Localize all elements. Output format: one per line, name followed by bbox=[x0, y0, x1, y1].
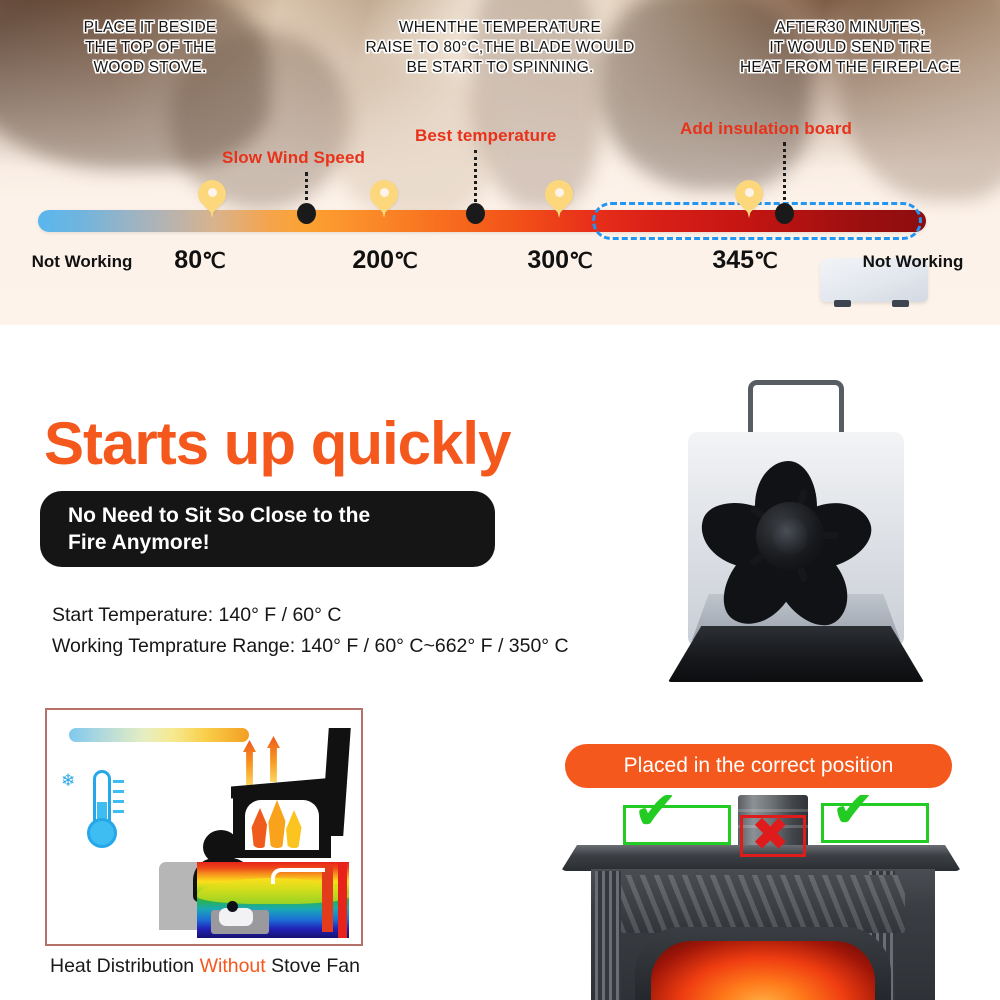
thermometer-graduation bbox=[113, 800, 124, 803]
stove-column bbox=[595, 871, 621, 1000]
caption-highlight: Without bbox=[200, 955, 266, 977]
caption-pre: Heat Distribution bbox=[50, 955, 200, 977]
thermometer-graduation bbox=[113, 780, 124, 783]
temperature-scale: Slow Wind Speed Best temperature Add ins… bbox=[0, 110, 1000, 300]
thermal-person-head bbox=[227, 901, 238, 912]
instruction-step-3-text: AFTER30 MINUTES,IT WOULD SEND TREHEAT FR… bbox=[708, 18, 992, 78]
tagline-badge: No Need to Sit So Close to the Fire Anym… bbox=[40, 491, 495, 567]
insulation-board-foot bbox=[834, 300, 851, 307]
instruction-steps: PLACE IT BESIDETHE TOP OF THEWOOD STOVE.… bbox=[0, 18, 1000, 90]
correct-position-badge: Placed in the correct position bbox=[565, 744, 952, 788]
stove-placement-illustration: ✔ ✖ ✔ bbox=[555, 795, 975, 1000]
tagline-line-1: No Need to Sit So Close to the bbox=[68, 504, 370, 527]
scale-pin-marker bbox=[370, 180, 398, 220]
tick-label-80: 80℃ bbox=[120, 246, 280, 275]
scale-pin-marker bbox=[735, 180, 763, 220]
heat-distribution-panel: ❄ bbox=[45, 708, 363, 946]
caption-post: Stove Fan bbox=[266, 955, 360, 977]
tick-label-not-working-right: Not Working bbox=[838, 252, 988, 272]
scale-pin-marker bbox=[545, 180, 573, 220]
snowflake-icon: ❄ bbox=[61, 772, 75, 789]
tick-label-345: 345℃ bbox=[655, 246, 835, 275]
thermal-imaging-photo bbox=[197, 862, 349, 938]
thermometer-icon: ❄ bbox=[75, 770, 137, 848]
instruction-step-1-text: PLACE IT BESIDETHE TOP OF THEWOOD STOVE. bbox=[8, 18, 292, 78]
hero-banner: PLACE IT BESIDETHE TOP OF THEWOOD STOVE.… bbox=[0, 0, 1000, 325]
page-title: Starts up quickly bbox=[44, 409, 510, 478]
thermometer-graduation bbox=[113, 790, 124, 793]
cross-icon: ✖ bbox=[751, 811, 790, 857]
thermal-heat-column bbox=[338, 862, 347, 938]
annotation-slow-wind-speed: Slow Wind Speed bbox=[222, 148, 365, 168]
heat-scale-gradient bbox=[69, 728, 249, 742]
thermometer-bulb bbox=[87, 818, 117, 848]
tick-label-200: 200℃ bbox=[295, 246, 475, 275]
instruction-step-1: PLACE IT BESIDETHE TOP OF THEWOOD STOVE. bbox=[0, 18, 300, 78]
check-icon: ✔ bbox=[831, 795, 876, 829]
fireplace-illustration bbox=[225, 728, 347, 868]
spec-start-temperature: Start Temperature: 140° F / 60° C bbox=[52, 604, 341, 627]
tagline-text: No Need to Sit So Close to the Fire Anym… bbox=[68, 502, 370, 556]
insulation-board-foot bbox=[892, 300, 909, 307]
scale-pin-marker bbox=[198, 180, 226, 220]
instruction-step-2: WHENTHE TEMPERATURERAISE TO 80°C,THE BLA… bbox=[300, 18, 700, 78]
correct-position-label: Placed in the correct position bbox=[624, 754, 894, 778]
stove-ornament-panel bbox=[621, 875, 905, 933]
tagline-line-2: Fire Anymore! bbox=[68, 531, 210, 554]
tick-label-300: 300℃ bbox=[470, 246, 650, 275]
fan-handle bbox=[748, 380, 844, 440]
thermometer-graduation bbox=[113, 810, 124, 813]
heat-distribution-caption: Heat Distribution Without Stove Fan bbox=[50, 955, 360, 978]
annotation-best-temperature: Best temperature bbox=[415, 126, 556, 146]
spec-working-range: Working Temprature Range: 140° F / 60° C… bbox=[52, 635, 569, 658]
check-icon: ✔ bbox=[633, 795, 678, 831]
instruction-step-3: AFTER30 MINUTES,IT WOULD SEND TREHEAT FR… bbox=[700, 18, 1000, 78]
annotation-add-insulation-board: Add insulation board bbox=[680, 119, 852, 139]
instruction-step-2-text: WHENTHE TEMPERATURERAISE TO 80°C,THE BLA… bbox=[308, 18, 692, 78]
stove-fan-product-image bbox=[636, 380, 956, 710]
stove-fire-glow bbox=[651, 941, 875, 1000]
fan-base-plate bbox=[668, 626, 924, 682]
fan-hub-center bbox=[772, 518, 808, 554]
airflow-arrow bbox=[271, 868, 325, 884]
